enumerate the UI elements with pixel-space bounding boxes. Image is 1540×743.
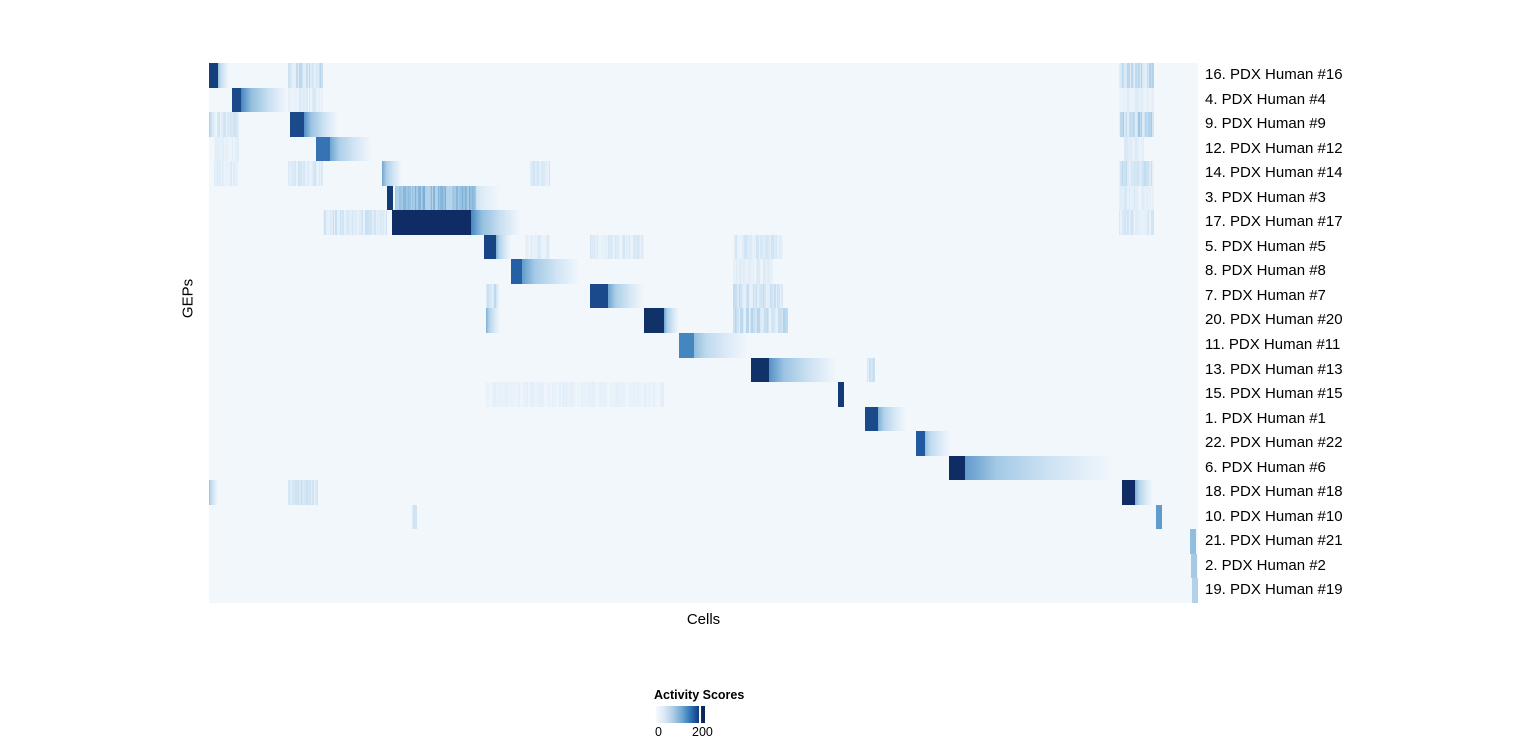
heatmap-row [209,308,1198,333]
heatmap-band [484,235,496,260]
heatmap-row [209,235,1198,260]
heatmap-cell-column [497,284,498,309]
heatmap-cell-column [781,284,782,309]
row-label[interactable]: 14. PDX Human #14 [1205,161,1343,186]
heatmap-row [209,333,1198,358]
heatmap-row [209,88,1198,113]
heatmap-row [209,186,1198,211]
row-label[interactable]: 17. PDX Human #17 [1205,210,1343,235]
heatmap-cell-column [321,63,322,88]
heatmap-band [838,382,844,407]
row-label[interactable]: 1. PDX Human #1 [1205,407,1326,432]
row-label[interactable]: 20. PDX Human #20 [1205,308,1343,333]
row-label[interactable]: 11. PDX Human #11 [1205,333,1340,358]
heatmap-band [486,308,500,333]
heatmap-row [209,137,1198,162]
heatmap-band [316,137,330,162]
heatmap-band [878,407,907,432]
heatmap-figure: GEPs Cells 16. PDX Human #164. PDX Human… [0,0,1540,743]
heatmap-cell-column [873,358,874,383]
heatmap-row [209,358,1198,383]
heatmap-cell-column [786,308,787,333]
row-label[interactable]: 2. PDX Human #2 [1205,554,1326,579]
heatmap-band [769,358,837,383]
colorbar-tick-label-min: 0 [655,725,662,739]
heatmap-cell-column [1152,186,1153,211]
heatmap-row [209,112,1198,137]
heatmap-band [241,88,288,113]
heatmap-row [209,259,1198,284]
row-label[interactable]: 15. PDX Human #15 [1205,382,1343,407]
row-label[interactable]: 12. PDX Human #12 [1205,137,1343,162]
colorbar-title: Activity Scores [654,688,744,702]
row-label[interactable]: 7. PDX Human #7 [1205,284,1326,309]
heatmap-cell-column [549,161,550,186]
heatmap-band [209,480,218,505]
heatmap-row [209,431,1198,456]
heatmap-band [1192,578,1198,603]
row-label[interactable]: 8. PDX Human #8 [1205,259,1326,284]
heatmap-band [232,88,241,113]
heatmap-band [965,456,1114,481]
heatmap-band [694,333,748,358]
heatmap-cell-column [237,137,238,162]
heatmap-row [209,480,1198,505]
heatmap-band [644,308,664,333]
heatmap-band [392,210,471,235]
heatmap-band [949,456,965,481]
row-label[interactable]: 13. PDX Human #13 [1205,358,1343,383]
colorbar-gradient [655,706,705,723]
row-label[interactable]: 10. PDX Human #10 [1205,505,1343,530]
y-axis-label: GEPs [180,279,197,319]
heatmap-band [290,112,304,137]
heatmap-band [1190,529,1196,554]
heatmap-band [476,186,501,211]
heatmap-cell-column [1152,88,1153,113]
heatmap-band [330,137,373,162]
heatmap-cell-column [1142,137,1143,162]
heatmap-band [679,333,694,358]
heatmap-cell-column [1152,63,1153,88]
heatmap-band [511,259,522,284]
heatmap-cell-column [771,259,772,284]
row-label[interactable]: 19. PDX Human #19 [1205,578,1343,603]
heatmap-band [209,112,217,137]
heatmap-cell-column [321,161,322,186]
heatmap-band [590,284,608,309]
heatmap-cell-column [1152,161,1153,186]
heatmap-band [1156,505,1162,530]
heatmap-band [209,63,218,88]
colorbar-tick-label-max: 200 [692,725,713,739]
row-label[interactable]: 6. PDX Human #6 [1205,456,1326,481]
heatmap-cell-column [316,480,317,505]
row-label[interactable]: 18. PDX Human #18 [1205,480,1343,505]
heatmap-cell-column [237,161,238,186]
heatmap-band [496,235,511,260]
heatmap-band [608,284,645,309]
heatmap-band [1122,480,1135,505]
heatmap-band [1135,480,1154,505]
heatmap-row [209,382,1198,407]
heatmap-cell-column [386,210,387,235]
x-axis-label: Cells [209,611,1198,628]
heatmap-cell-column [1152,112,1153,137]
heatmap-band [865,407,878,432]
heatmap-cell-column [663,382,664,407]
heatmap-plot-area[interactable] [209,63,1198,603]
heatmap-row [209,529,1198,554]
heatmap-cell-column [415,505,416,530]
row-label[interactable]: 22. PDX Human #22 [1205,431,1343,456]
heatmap-band [925,431,951,456]
heatmap-row [209,407,1198,432]
heatmap-band [382,161,402,186]
row-label[interactable]: 4. PDX Human #4 [1205,88,1326,113]
heatmap-row [209,456,1198,481]
heatmap-cell-column [237,112,239,137]
heatmap-row [209,284,1198,309]
heatmap-band [1191,554,1197,579]
heatmap-band [664,308,679,333]
heatmap-cell-column [781,235,782,260]
row-label[interactable]: 5. PDX Human #5 [1205,235,1326,260]
heatmap-row [209,210,1198,235]
heatmap-cell-column [643,235,644,260]
row-label[interactable]: 21. PDX Human #21 [1205,529,1343,554]
heatmap-band [471,210,520,235]
row-label-list: 16. PDX Human #164. PDX Human #49. PDX H… [1205,63,1525,603]
heatmap-cell-column [1152,210,1153,235]
row-label[interactable]: 16. PDX Human #16 [1205,63,1343,88]
heatmap-band [218,63,229,88]
heatmap-row [209,505,1198,530]
heatmap-band [387,186,393,211]
row-label[interactable]: 9. PDX Human #9 [1205,112,1326,137]
heatmap-row [209,161,1198,186]
colorbar-tick-mark [699,706,701,723]
heatmap-band [522,259,580,284]
row-label[interactable]: 3. PDX Human #3 [1205,186,1326,211]
heatmap-band [751,358,769,383]
heatmap-band [304,112,338,137]
heatmap-cell-column [549,235,550,260]
heatmap-cell-column [321,88,322,113]
heatmap-row [209,578,1198,603]
heatmap-row [209,63,1198,88]
heatmap-band [916,431,925,456]
heatmap-row [209,554,1198,579]
